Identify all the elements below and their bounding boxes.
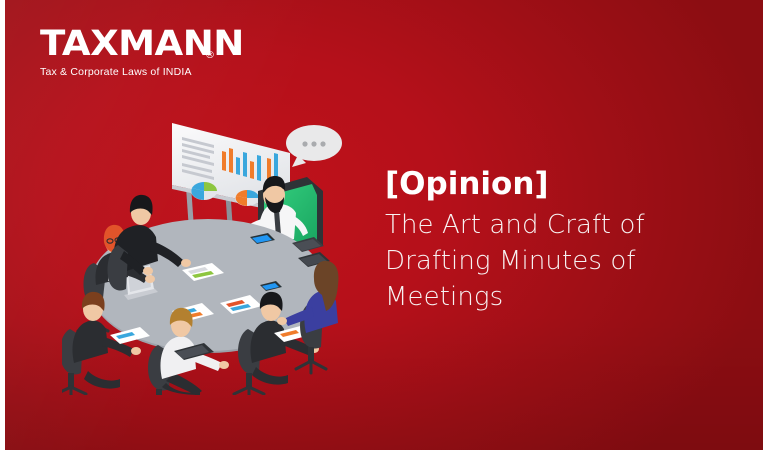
meeting-illustration-svg xyxy=(62,95,372,395)
opinion-kicker: [Opinion] xyxy=(385,163,715,205)
page-title: The Art and Craft of Drafting Minutes of… xyxy=(385,207,715,315)
opinion-banner: TAXMANN ® Tax & Corporate Laws of INDIA … xyxy=(0,0,768,450)
taxmann-logo[interactable]: TAXMANN ® Tax & Corporate Laws of INDIA xyxy=(40,26,240,82)
registered-trademark-icon: ® xyxy=(205,51,215,61)
board-pie-chart-1 xyxy=(191,182,217,200)
meeting-illustration xyxy=(62,95,372,395)
logo-tagline: Tax & Corporate Laws of INDIA xyxy=(40,66,240,78)
headline-block: [Opinion] The Art and Craft of Drafting … xyxy=(385,163,715,315)
speech-bubble xyxy=(286,125,342,167)
board-pie-chart-2 xyxy=(235,190,259,206)
logo-wordmark: TAXMANN xyxy=(40,26,252,62)
